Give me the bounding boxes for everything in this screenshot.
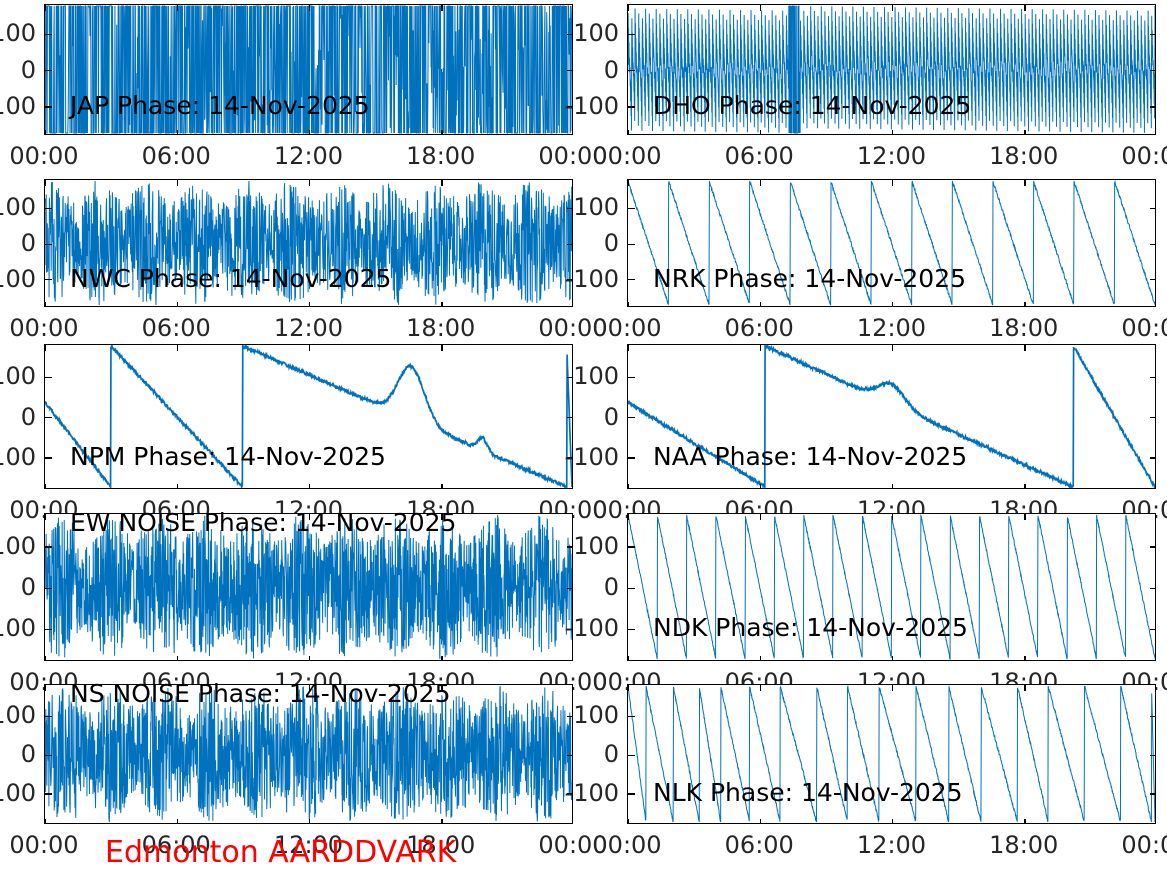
x-tick-mark <box>760 656 761 661</box>
x-tick-mark <box>45 302 46 307</box>
panel-title-nwc: NWC Phase: 14-Nov-2025 <box>70 266 391 291</box>
y-axis-label-ns-noise-2: -100 <box>0 781 36 805</box>
x-tick-mark <box>177 819 178 824</box>
x-tick-mark <box>1024 685 1025 691</box>
x-tick-mark <box>1155 180 1156 186</box>
x-tick-mark <box>1024 130 1025 135</box>
x-axis-label-nwc-3: 18:00 <box>381 316 501 340</box>
x-axis-label-dho-3: 18:00 <box>964 144 1084 168</box>
y-tick-mark <box>628 629 635 630</box>
x-axis-label-jap-2: 12:00 <box>249 144 369 168</box>
y-tick-mark <box>628 755 635 756</box>
x-tick-mark <box>309 5 310 11</box>
y-axis-label-jap-0: 100 <box>0 21 36 45</box>
panel-title-nlk: NLK Phase: 14-Nov-2025 <box>653 780 963 805</box>
x-tick-mark <box>309 484 310 489</box>
x-tick-mark <box>628 345 629 351</box>
y-axis-label-nlk-1: 0 <box>557 742 619 766</box>
y-tick-mark <box>628 244 635 245</box>
x-tick-mark <box>572 5 573 11</box>
x-tick-mark <box>177 180 178 186</box>
x-tick-mark <box>628 5 629 11</box>
y-axis-label-nwc-1: 0 <box>0 231 36 255</box>
x-axis-label-nrk-3: 18:00 <box>964 316 1084 340</box>
y-tick-mark <box>45 629 52 630</box>
y-axis-label-jap-1: 0 <box>0 58 36 82</box>
x-tick-mark <box>441 819 442 824</box>
x-tick-mark <box>45 514 46 520</box>
x-tick-mark <box>1155 685 1156 691</box>
x-tick-mark <box>1024 819 1025 824</box>
y-tick-mark <box>1150 793 1156 794</box>
x-tick-mark <box>892 302 893 307</box>
x-tick-mark <box>572 180 573 186</box>
y-tick-mark <box>45 793 52 794</box>
x-tick-mark <box>892 5 893 11</box>
x-tick-mark <box>760 685 761 691</box>
y-tick-mark <box>628 793 635 794</box>
x-tick-mark <box>45 819 46 824</box>
x-tick-mark <box>1155 514 1156 520</box>
x-axis-label-nrk-2: 12:00 <box>832 316 952 340</box>
y-axis-label-npm-1: 0 <box>0 405 36 429</box>
x-tick-mark <box>760 514 761 520</box>
x-axis-label-dho-1: 06:00 <box>699 144 819 168</box>
y-tick-mark <box>45 279 52 280</box>
y-axis-label-nwc-2: -100 <box>0 267 36 291</box>
y-tick-mark <box>1150 417 1156 418</box>
x-tick-mark <box>1024 514 1025 520</box>
y-tick-mark <box>1150 34 1156 35</box>
y-tick-mark <box>628 279 635 280</box>
panel-title-naa: NAA Phase: 14-Nov-2025 <box>653 444 967 469</box>
x-tick-mark <box>572 685 573 691</box>
y-axis-label-ns-noise-0: 100 <box>0 703 36 727</box>
x-axis-label-jap-0: 00:00 <box>0 144 104 168</box>
y-tick-mark <box>628 588 635 589</box>
y-tick-mark <box>628 546 635 547</box>
x-tick-mark <box>177 345 178 351</box>
y-tick-mark <box>628 208 635 209</box>
x-tick-mark <box>892 180 893 186</box>
x-tick-mark <box>45 180 46 186</box>
y-tick-mark <box>1150 629 1156 630</box>
x-tick-mark <box>892 685 893 691</box>
y-tick-mark <box>1150 457 1156 458</box>
y-axis-label-dho-2: -100 <box>557 94 619 118</box>
x-tick-mark <box>1024 5 1025 11</box>
x-axis-label-nlk-0: 00:00 <box>567 833 687 857</box>
x-tick-mark <box>309 302 310 307</box>
x-tick-mark <box>572 302 573 307</box>
x-tick-mark <box>760 819 761 824</box>
x-tick-mark <box>892 656 893 661</box>
x-tick-mark <box>628 130 629 135</box>
x-tick-mark <box>1024 484 1025 489</box>
x-axis-label-jap-1: 06:00 <box>116 144 236 168</box>
y-tick-mark <box>1150 716 1156 717</box>
y-tick-mark <box>45 588 52 589</box>
y-tick-mark <box>1150 106 1156 107</box>
y-tick-mark <box>628 716 635 717</box>
x-tick-mark <box>1024 302 1025 307</box>
y-tick-mark <box>1150 70 1156 71</box>
x-tick-mark <box>45 5 46 11</box>
y-tick-mark <box>1150 244 1156 245</box>
y-axis-label-naa-1: 0 <box>557 405 619 429</box>
x-tick-mark <box>628 302 629 307</box>
y-tick-mark <box>45 106 52 107</box>
x-tick-mark <box>572 656 573 661</box>
x-tick-mark <box>1155 484 1156 489</box>
y-tick-mark <box>628 106 635 107</box>
y-tick-mark <box>1150 377 1156 378</box>
x-tick-mark <box>45 345 46 351</box>
x-axis-label-nwc-2: 12:00 <box>249 316 369 340</box>
y-tick-mark <box>628 457 635 458</box>
x-tick-mark <box>309 345 310 351</box>
x-axis-label-ns-noise-0: 00:00 <box>0 833 104 857</box>
y-tick-mark <box>45 716 52 717</box>
x-tick-mark <box>628 514 629 520</box>
y-axis-label-nrk-2: -100 <box>557 267 619 291</box>
x-tick-mark <box>628 180 629 186</box>
x-tick-mark <box>441 484 442 489</box>
x-tick-mark <box>45 656 46 661</box>
y-tick-mark <box>1150 755 1156 756</box>
x-tick-mark <box>892 819 893 824</box>
x-tick-mark <box>1024 345 1025 351</box>
x-tick-mark <box>760 484 761 489</box>
y-axis-label-ndk-2: -100 <box>557 616 619 640</box>
y-axis-label-nwc-0: 100 <box>0 195 36 219</box>
x-tick-mark <box>628 656 629 661</box>
x-tick-mark <box>760 345 761 351</box>
x-tick-mark <box>177 302 178 307</box>
x-tick-mark <box>572 484 573 489</box>
y-axis-label-dho-0: 100 <box>557 21 619 45</box>
x-tick-mark <box>1155 302 1156 307</box>
x-tick-mark <box>45 685 46 691</box>
x-tick-mark <box>572 514 573 520</box>
x-tick-mark <box>177 484 178 489</box>
y-tick-mark <box>628 417 635 418</box>
x-tick-mark <box>1024 180 1025 186</box>
x-tick-mark <box>1155 819 1156 824</box>
y-axis-label-ew-noise-2: -100 <box>0 616 36 640</box>
y-tick-mark <box>45 457 52 458</box>
y-axis-label-ndk-0: 100 <box>557 534 619 558</box>
x-tick-mark <box>892 345 893 351</box>
panel-title-nrk: NRK Phase: 14-Nov-2025 <box>653 266 966 291</box>
y-tick-mark <box>1150 208 1156 209</box>
y-axis-label-naa-2: -100 <box>557 445 619 469</box>
y-tick-mark <box>45 70 52 71</box>
y-tick-mark <box>45 417 52 418</box>
y-tick-mark <box>1150 588 1156 589</box>
x-tick-mark <box>441 180 442 186</box>
panel-title-dho: DHO Phase: 14-Nov-2025 <box>653 93 971 118</box>
x-tick-mark <box>1155 345 1156 351</box>
panel-title-jap: JAP Phase: 14-Nov-2025 <box>70 93 370 118</box>
panel-title-ew-noise: EW NOISE Phase: 14-Nov-2025 <box>70 510 456 535</box>
x-tick-mark <box>760 302 761 307</box>
x-tick-mark <box>309 656 310 661</box>
x-tick-mark <box>572 819 573 824</box>
y-tick-mark <box>45 755 52 756</box>
y-axis-label-naa-0: 100 <box>557 364 619 388</box>
y-axis-label-nrk-0: 100 <box>557 195 619 219</box>
y-axis-label-nrk-1: 0 <box>557 231 619 255</box>
x-axis-label-dho-0: 00:00 <box>567 144 687 168</box>
y-axis-label-npm-0: 100 <box>0 364 36 388</box>
x-tick-mark <box>628 685 629 691</box>
x-tick-mark <box>177 5 178 11</box>
x-tick-mark <box>572 130 573 135</box>
x-tick-mark <box>760 5 761 11</box>
x-tick-mark <box>45 484 46 489</box>
x-tick-mark <box>45 130 46 135</box>
panel-title-npm: NPM Phase: 14-Nov-2025 <box>70 444 386 469</box>
x-tick-mark <box>1024 656 1025 661</box>
figure-footer-label: Edmonton AARDDVARK <box>105 838 456 868</box>
y-axis-label-ew-noise-1: 0 <box>0 575 36 599</box>
x-axis-label-jap-3: 18:00 <box>381 144 501 168</box>
x-axis-label-nlk-4: 00:00 <box>1096 833 1167 857</box>
x-tick-mark <box>1155 5 1156 11</box>
y-axis-label-ndk-1: 0 <box>557 575 619 599</box>
y-tick-mark <box>45 244 52 245</box>
y-tick-mark <box>45 34 52 35</box>
x-tick-mark <box>1155 130 1156 135</box>
x-tick-mark <box>177 130 178 135</box>
x-axis-label-nrk-4: 00:00 <box>1096 316 1167 340</box>
x-tick-mark <box>441 130 442 135</box>
panel-title-ns-noise: NS NOISE Phase: 14-Nov-2025 <box>70 681 451 706</box>
x-axis-label-nrk-1: 06:00 <box>699 316 819 340</box>
x-tick-mark <box>309 130 310 135</box>
y-axis-label-jap-2: -100 <box>0 94 36 118</box>
y-tick-mark <box>45 377 52 378</box>
x-axis-label-nlk-3: 18:00 <box>964 833 1084 857</box>
x-tick-mark <box>309 819 310 824</box>
x-axis-label-nwc-0: 00:00 <box>0 316 104 340</box>
x-tick-mark <box>760 130 761 135</box>
x-tick-mark <box>309 180 310 186</box>
x-axis-label-nlk-2: 12:00 <box>832 833 952 857</box>
y-axis-label-ew-noise-0: 100 <box>0 534 36 558</box>
x-tick-mark <box>441 345 442 351</box>
x-tick-mark <box>892 484 893 489</box>
x-tick-mark <box>760 180 761 186</box>
x-tick-mark <box>628 484 629 489</box>
x-tick-mark <box>892 514 893 520</box>
y-tick-mark <box>45 546 52 547</box>
y-axis-label-nlk-2: -100 <box>557 781 619 805</box>
panel-title-ndk: NDK Phase: 14-Nov-2025 <box>653 615 968 640</box>
x-tick-mark <box>441 5 442 11</box>
x-axis-label-nrk-0: 00:00 <box>567 316 687 340</box>
x-tick-mark <box>892 130 893 135</box>
x-axis-label-dho-2: 12:00 <box>832 144 952 168</box>
x-tick-mark <box>1155 656 1156 661</box>
y-axis-label-dho-1: 0 <box>557 58 619 82</box>
y-tick-mark <box>628 377 635 378</box>
x-tick-mark <box>441 302 442 307</box>
y-tick-mark <box>628 34 635 35</box>
y-tick-mark <box>45 208 52 209</box>
y-axis-label-ns-noise-1: 0 <box>0 742 36 766</box>
x-axis-label-dho-4: 00:00 <box>1096 144 1167 168</box>
x-axis-label-nwc-1: 06:00 <box>116 316 236 340</box>
x-axis-label-nlk-1: 06:00 <box>699 833 819 857</box>
y-axis-label-npm-2: -100 <box>0 445 36 469</box>
x-tick-mark <box>177 656 178 661</box>
y-tick-mark <box>1150 279 1156 280</box>
y-tick-mark <box>1150 546 1156 547</box>
x-tick-mark <box>441 656 442 661</box>
y-axis-label-nlk-0: 100 <box>557 703 619 727</box>
y-tick-mark <box>628 70 635 71</box>
x-tick-mark <box>628 819 629 824</box>
x-tick-mark <box>572 345 573 351</box>
